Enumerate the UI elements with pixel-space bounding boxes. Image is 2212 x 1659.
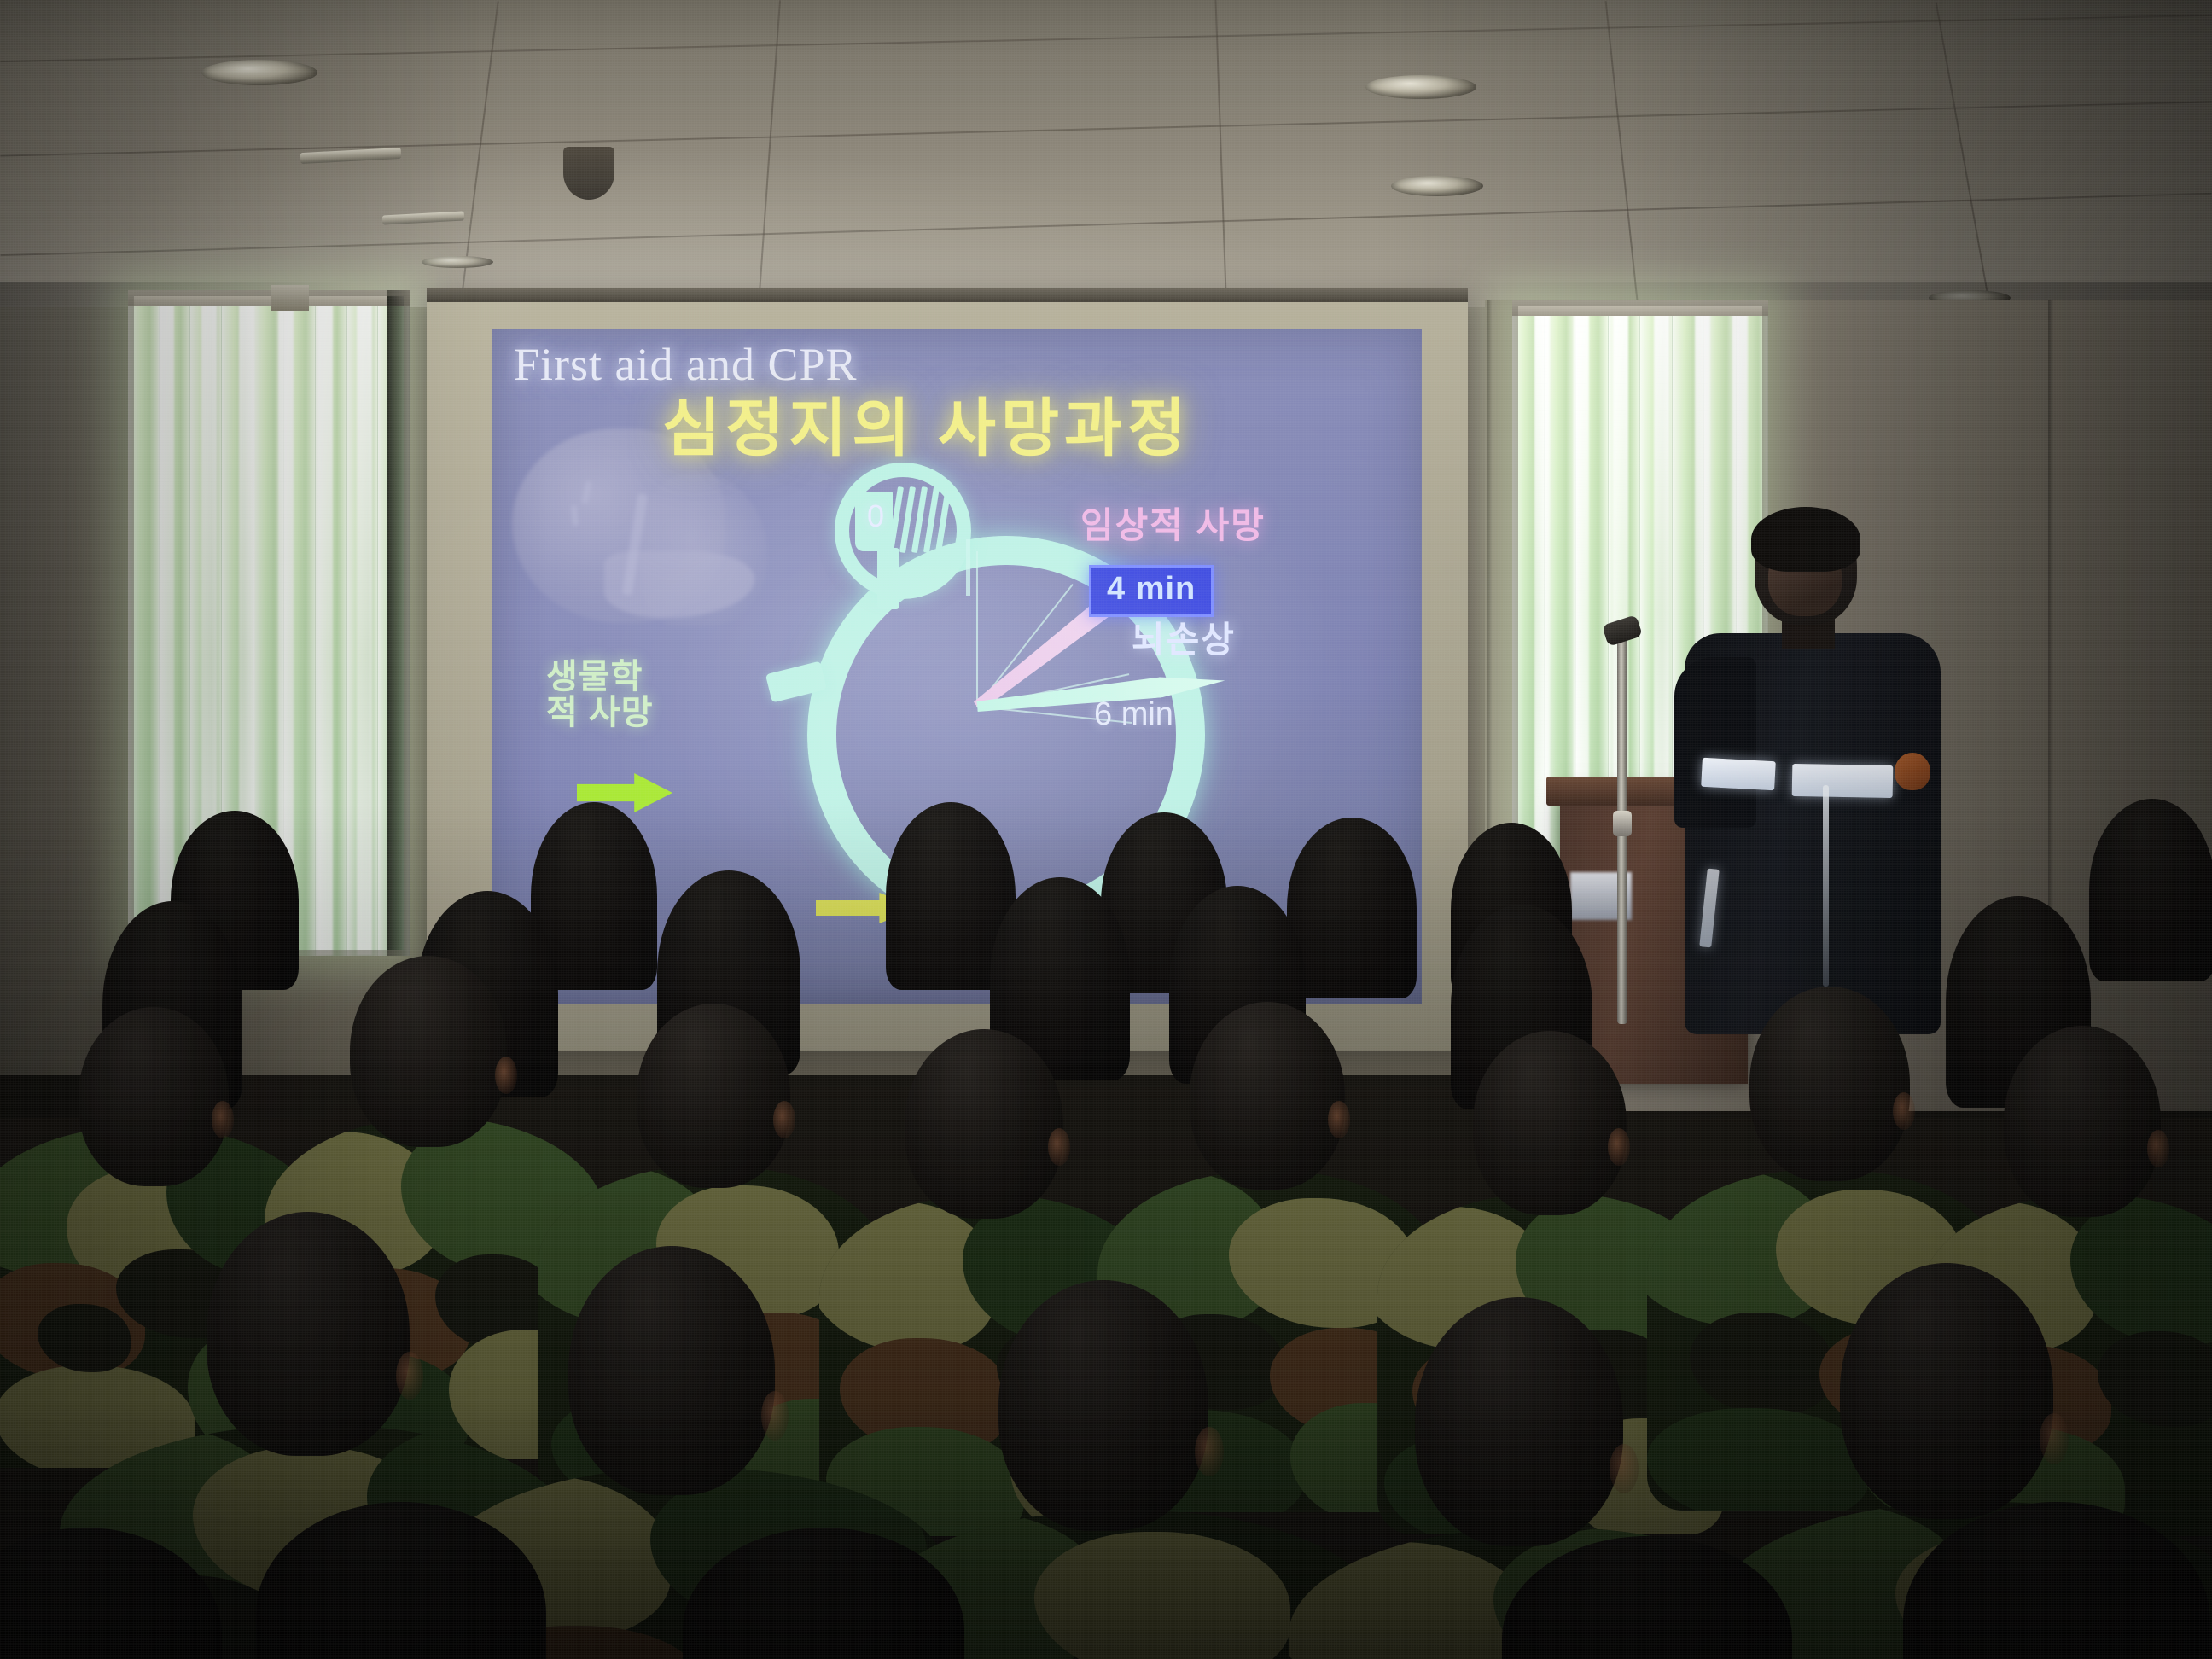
audience-head-back: [1287, 818, 1417, 998]
slide-zero-label: 0: [867, 498, 884, 534]
slide-clinical-death-label: 임상적 사망: [1080, 497, 1266, 549]
slide-4min-badge: 4 min: [1089, 565, 1214, 617]
lecture-room-photo: First aid and CPR 심정지의 사망과정: [0, 0, 2212, 1659]
speaker-hair: [1751, 507, 1860, 572]
blind-wand: [271, 285, 309, 311]
ceiling: [0, 0, 2212, 317]
audience-person-front: [922, 1280, 1331, 1659]
audience: [0, 734, 2212, 1659]
bio-label-line2: 적 사망: [546, 694, 654, 731]
bio-label-line1: 생물학: [546, 658, 643, 696]
ceiling-shading: [0, 0, 2212, 317]
audience-head-back: [2089, 799, 2212, 981]
screen-roller: [427, 288, 1468, 302]
slide-title-korean: 심정지의 사망과정: [662, 377, 1190, 469]
slide-brain-damage-label: 뇌손상: [1132, 611, 1236, 663]
slide-biological-death-label: 생물학 적 사망: [546, 659, 654, 731]
slide-6min-label: 6 min: [1094, 696, 1173, 733]
